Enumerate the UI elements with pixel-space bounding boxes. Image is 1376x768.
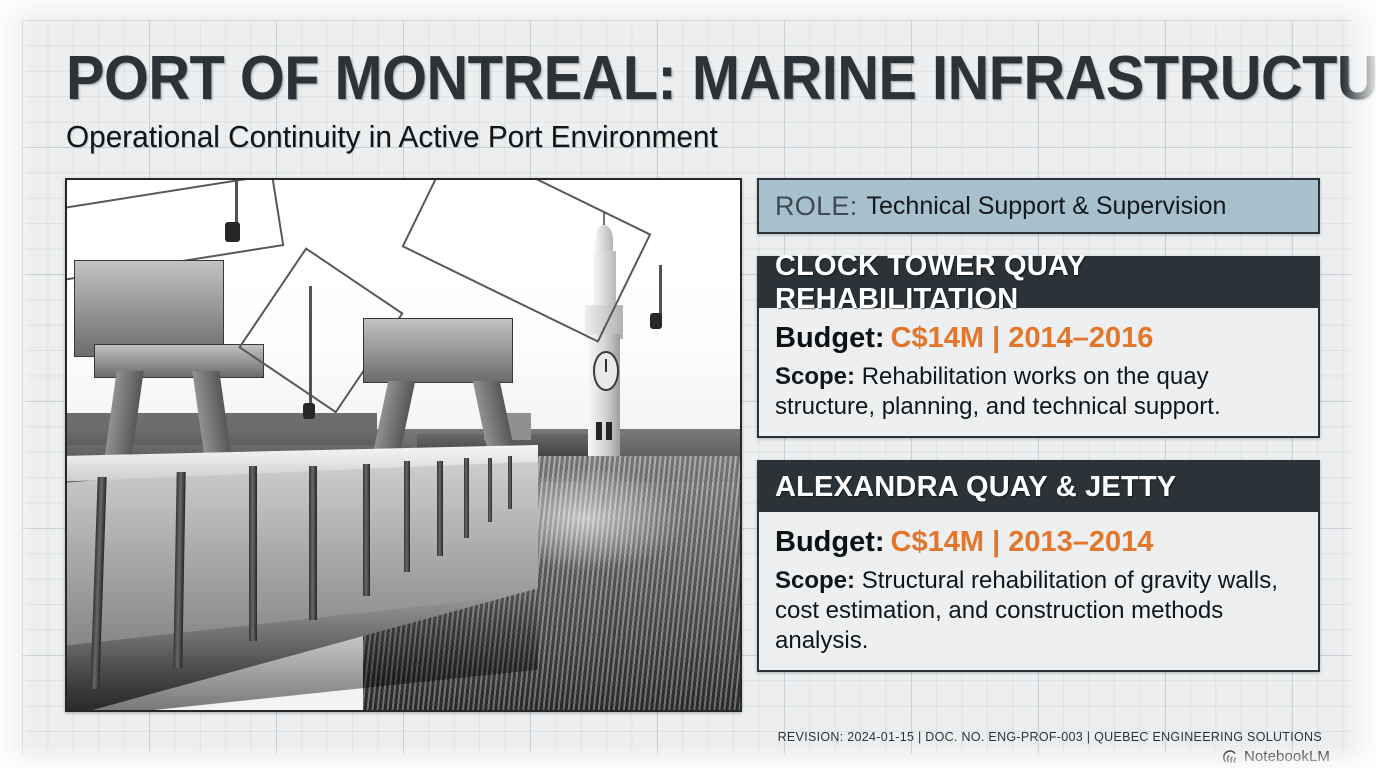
photo-quay-pile <box>508 456 512 509</box>
port-photo-image <box>67 180 740 710</box>
role-label: ROLE: <box>775 191 858 222</box>
info-column: ROLE: Technical Support & Supervision CL… <box>757 178 1320 672</box>
notebooklm-wordmark: NotebookLM <box>1244 748 1330 765</box>
page-title: PORT OF MONTREAL: MARINE INFRASTRUCTURE <box>66 48 1238 110</box>
tower-clock-face <box>593 351 618 391</box>
tower-window <box>596 422 602 440</box>
project-card-clock-tower-quay: CLOCK TOWER QUAY REHABILITATION Budget:C… <box>757 256 1320 438</box>
photo-quay-pile <box>404 461 410 572</box>
photo-quay-pile <box>437 461 442 556</box>
project-details: Budget:C$14M | 2013–2014 Scope: Structur… <box>759 512 1318 670</box>
photo-crane-hook <box>303 403 315 419</box>
photo-crane-cable <box>309 286 312 403</box>
project-title: ALEXANDRA QUAY & JETTY <box>759 462 1318 512</box>
role-value: Technical Support & Supervision <box>867 192 1227 221</box>
port-photo <box>65 178 742 712</box>
photo-quay-pile <box>249 466 257 641</box>
scope-row: Scope: Structural rehabilitation of grav… <box>775 566 1302 656</box>
photo-quay-pile <box>363 464 370 597</box>
project-card-alexandra-quay: ALEXANDRA QUAY & JETTY Budget:C$14M | 20… <box>757 460 1320 672</box>
photo-crane-hook <box>650 313 662 329</box>
notebooklm-brand: NotebookLM <box>778 748 1330 765</box>
document-meta: REVISION: 2024-01-15 | DOC. NO. ENG-PROF… <box>778 730 1322 744</box>
budget-value: C$14M | 2014–2016 <box>891 322 1154 354</box>
photo-crane-house-left <box>74 260 224 357</box>
slide-footer: REVISION: 2024-01-15 | DOC. NO. ENG-PROF… <box>778 730 1322 765</box>
slide-canvas: PORT OF MONTREAL: MARINE INFRASTRUCTURE … <box>0 0 1376 768</box>
role-banner: ROLE: Technical Support & Supervision <box>757 178 1320 234</box>
scope-label: Scope: <box>775 567 855 594</box>
photo-quay-pile <box>309 466 316 620</box>
page-subtitle: Operational Continuity in Active Port En… <box>66 120 1276 154</box>
budget-row: Budget:C$14M | 2013–2014 <box>775 522 1302 562</box>
photo-quay-pile <box>464 458 469 538</box>
photo-crane-hook <box>225 222 240 242</box>
slide-header: PORT OF MONTREAL: MARINE INFRASTRUCTURE … <box>66 48 1326 154</box>
notebooklm-spiral-icon <box>1222 749 1239 764</box>
photo-quay-pile <box>488 458 492 522</box>
project-title: CLOCK TOWER QUAY REHABILITATION <box>759 258 1318 308</box>
scope-row: Scope: Rehabilitation works on the quay … <box>775 362 1302 422</box>
budget-value: C$14M | 2013–2014 <box>891 526 1154 558</box>
photo-crane-house-right <box>363 318 513 384</box>
budget-row: Budget:C$14M | 2014–2016 <box>775 318 1302 358</box>
scope-label: Scope: <box>775 363 855 390</box>
project-details: Budget:C$14M | 2014–2016 Scope: Rehabili… <box>759 308 1318 436</box>
budget-label: Budget: <box>775 322 885 354</box>
tower-window <box>606 422 612 440</box>
budget-label: Budget: <box>775 526 885 558</box>
